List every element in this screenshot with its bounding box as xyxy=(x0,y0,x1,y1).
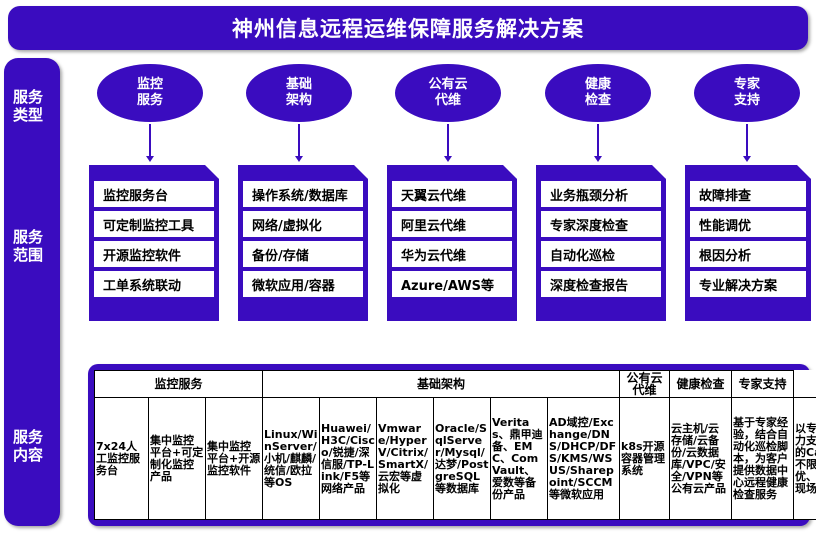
table-cell: Vmware/HyperV/Citrix/SmartX/云宏等虚拟化 xyxy=(377,398,434,520)
page-title: 神州信息远程运维保障服务解决方案 xyxy=(8,6,808,50)
scope-item[interactable]: 网络/虚拟化 xyxy=(243,211,363,237)
table-cell: Oracle/SqlServer/Mysql/达梦/PostgreSQL等数据库 xyxy=(434,398,491,520)
scope-box-public-cloud: 天翼云代维 阿里云代维 华为云代维 Azure/AWS等 xyxy=(387,165,517,321)
rail-label-service-type-line2: 类型 xyxy=(0,106,56,124)
scope-box-infrastructure: 操作系统/数据库 网络/虚拟化 备份/存储 微软应用/容器 xyxy=(238,165,368,321)
table-cell: k8s开源容器管理系统 xyxy=(620,398,670,520)
table-cell: 以专家的能力支持复杂的Case，不限于调优、排障、现场支持 xyxy=(794,398,816,520)
table-cell: Veritas、鼎甲迪备、EMC、ComVault、爱数等备份产品 xyxy=(491,398,548,520)
category-ellipse-public-cloud-line2: 代维 xyxy=(435,93,461,109)
scope-item[interactable]: 专业解决方案 xyxy=(690,271,806,297)
table-header-public-cloud: 公有云代维 xyxy=(620,371,670,398)
scope-item[interactable]: 微软应用/容器 xyxy=(243,271,363,297)
category-ellipse-health-check-line1: 健康 xyxy=(585,77,611,93)
table-cell: Huawei/H3C/Cisco/锐捷/深信服/TP-Link/F5等网络产品 xyxy=(320,398,377,520)
category-ellipse-infrastructure[interactable]: 基础 架构 xyxy=(246,64,352,122)
scope-item[interactable]: 故障排查 xyxy=(690,181,806,207)
category-ellipse-public-cloud[interactable]: 公有云 代维 xyxy=(395,64,501,122)
connector-arrow-health-check xyxy=(597,124,599,160)
category-ellipse-monitoring-line2: 服务 xyxy=(137,93,163,109)
rail-label-service-content-line1: 服务 xyxy=(0,428,56,446)
connector-arrow-infrastructure xyxy=(298,124,300,160)
scope-item[interactable]: 开源监控软件 xyxy=(94,241,214,267)
scope-item[interactable]: 性能调优 xyxy=(690,211,806,237)
table-cell: AD域控/Exchange/DNS/DHCP/DFS/KMS/WSUS/Shar… xyxy=(548,398,620,520)
scope-box-monitoring: 监控服务台 可定制监控工具 开源监控软件 工单系统联动 xyxy=(89,165,219,321)
table-header-health-check: 健康检查 xyxy=(670,371,732,398)
category-ellipse-expert-support-line1: 专家 xyxy=(734,77,760,93)
table-header-expert-support: 专家支持 xyxy=(732,371,794,398)
rail-label-service-scope: 服务 范围 xyxy=(0,228,56,264)
scope-item[interactable]: 工单系统联动 xyxy=(94,271,214,297)
scope-item[interactable]: 阿里云代维 xyxy=(392,211,512,237)
category-ellipse-monitoring-line1: 监控 xyxy=(137,77,163,93)
scope-item[interactable]: 业务瓶颈分析 xyxy=(541,181,661,207)
scope-item[interactable]: 专家深度检查 xyxy=(541,211,661,237)
rail-label-service-scope-line1: 服务 xyxy=(0,228,56,246)
rail-label-service-type-line1: 服务 xyxy=(0,88,56,106)
table-cell: 集中监控平台+开源监控软件 xyxy=(206,398,263,520)
table-cell: 云主机/云存储/云备份/云数据库/VPC/安全/VPN等公有云产品 xyxy=(670,398,732,520)
scope-box-health-check: 业务瓶颈分析 专家深度检查 自动化巡检 深度检查报告 xyxy=(536,165,666,321)
table-cell: Linux/WinServer/小机/麒麟/统信/欧拉等OS xyxy=(263,398,320,520)
service-content-panel: 监控服务 基础架构 公有云代维 健康检查 专家支持 7x24人工监控服务台 集中… xyxy=(88,364,810,526)
rail-label-service-content-line2: 内容 xyxy=(0,446,56,464)
connector-arrow-public-cloud xyxy=(447,124,449,160)
table-cell: 集中监控平台+可定制化监控产品 xyxy=(149,398,206,520)
table-header-row: 监控服务 基础架构 公有云代维 健康检查 专家支持 xyxy=(95,371,816,398)
category-ellipse-expert-support[interactable]: 专家 支持 xyxy=(694,64,800,122)
scope-item[interactable]: 华为云代维 xyxy=(392,241,512,267)
scope-item[interactable]: 备份/存储 xyxy=(243,241,363,267)
category-ellipse-infrastructure-line1: 基础 xyxy=(286,77,312,93)
scope-box-expert-support: 故障排查 性能调优 根因分析 专业解决方案 xyxy=(685,165,811,321)
scope-item[interactable]: 天翼云代维 xyxy=(392,181,512,207)
scope-item[interactable]: 监控服务台 xyxy=(94,181,214,207)
category-ellipse-monitoring[interactable]: 监控 服务 xyxy=(97,64,203,122)
category-ellipse-health-check-line2: 检查 xyxy=(585,93,611,109)
rail-label-service-type: 服务 类型 xyxy=(0,88,56,124)
scope-item[interactable]: 可定制监控工具 xyxy=(94,211,214,237)
category-ellipse-public-cloud-line1: 公有云 xyxy=(428,77,467,93)
category-ellipse-expert-support-line2: 支持 xyxy=(734,93,760,109)
rail-label-service-scope-line2: 范围 xyxy=(0,246,56,264)
category-ellipse-infrastructure-line2: 架构 xyxy=(286,93,312,109)
diagram-canvas: 神州信息远程运维保障服务解决方案 服务 类型 服务 范围 服务 内容 监控 服务… xyxy=(0,0,816,533)
scope-item[interactable]: 操作系统/数据库 xyxy=(243,181,363,207)
connector-arrow-expert-support xyxy=(746,124,748,160)
scope-item[interactable]: 自动化巡检 xyxy=(541,241,661,267)
table-header-infrastructure: 基础架构 xyxy=(263,371,620,398)
category-ellipse-health-check[interactable]: 健康 检查 xyxy=(545,64,651,122)
table-cell: 基于专家经验，结合自动化巡检脚本，为客户提供数据中心远程健康检查服务 xyxy=(732,398,794,520)
scope-item[interactable]: 根因分析 xyxy=(690,241,806,267)
table-cell: 7x24人工监控服务台 xyxy=(95,398,149,520)
table-row: 7x24人工监控服务台 集中监控平台+可定制化监控产品 集中监控平台+开源监控软… xyxy=(95,398,816,520)
rail-label-service-content: 服务 内容 xyxy=(0,428,56,464)
table-header-monitoring: 监控服务 xyxy=(95,371,263,398)
scope-item[interactable]: Azure/AWS等 xyxy=(392,271,512,297)
scope-item[interactable]: 深度检查报告 xyxy=(541,271,661,297)
service-content-table: 监控服务 基础架构 公有云代维 健康检查 专家支持 7x24人工监控服务台 集中… xyxy=(94,370,816,520)
connector-arrow-monitoring xyxy=(149,124,151,160)
